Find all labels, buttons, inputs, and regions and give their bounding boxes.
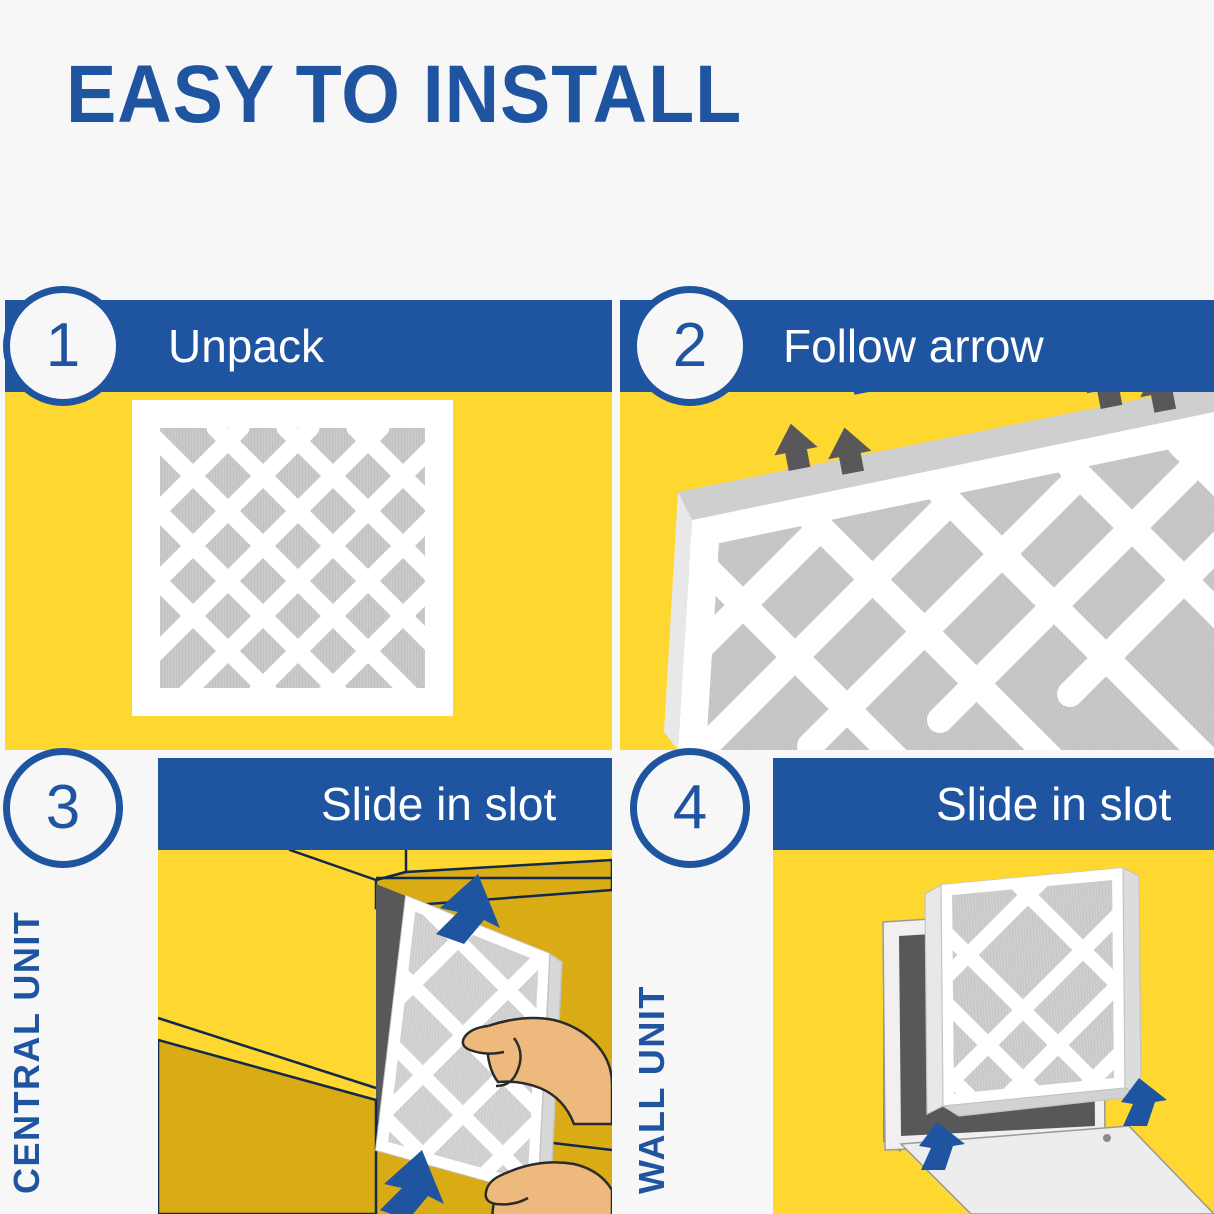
- step-4-illustration: [773, 850, 1214, 1214]
- step-3-header: Slide in slot: [158, 758, 612, 850]
- wall-unit-graphic: [773, 850, 1214, 1214]
- step-3-number-badge: 3: [3, 748, 123, 868]
- central-unit-caption: CENTRAL UNIT: [9, 814, 45, 1194]
- step-1-illustration: [5, 392, 612, 750]
- tilted-filter-airflow-graphic: [620, 392, 1214, 750]
- step-2-label: Follow arrow: [783, 323, 1044, 369]
- step-1-number-badge: 1: [3, 286, 123, 406]
- step-3-label: Slide in slot: [321, 781, 556, 827]
- step-panel-1: Unpack 1: [5, 300, 612, 750]
- step-panel-2: Follow arrow 2: [620, 300, 1214, 750]
- page-title: EASY TO INSTALL: [66, 52, 742, 138]
- step-4-number-badge: 4: [630, 748, 750, 868]
- airflow-arrow-left: [781, 392, 887, 407]
- wall-unit-caption: WALL UNIT: [634, 814, 670, 1194]
- step-2-number-badge: 2: [630, 286, 750, 406]
- step-2-illustration: [620, 392, 1214, 750]
- flat-air-filter-graphic: [5, 392, 612, 750]
- step-4-label: Slide in slot: [936, 781, 1171, 827]
- step-3-illustration: [158, 850, 612, 1214]
- central-unit-graphic: [158, 850, 612, 1214]
- step-4-header: Slide in slot: [773, 758, 1214, 850]
- step-panel-4: Slide in slot 4 WALL UNIT: [620, 758, 1214, 1214]
- step-panel-3: Slide in slot 3 CENTRAL UNIT: [5, 758, 612, 1214]
- step-1-label: Unpack: [168, 323, 324, 369]
